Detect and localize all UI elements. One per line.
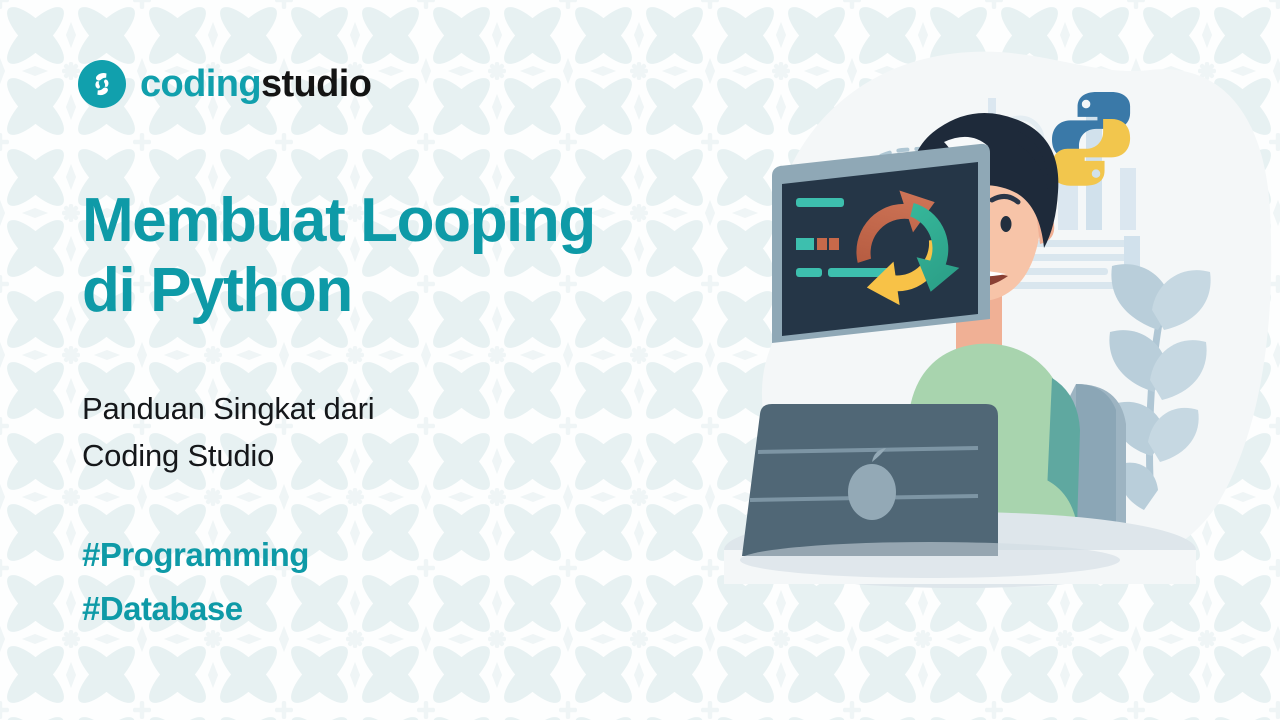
laptop-logo-icon [848,464,896,520]
wordmark-studio: studio [261,63,371,105]
brand-wordmark: codingstudio [140,65,371,103]
hero-illustration [720,0,1280,720]
hashtag-programming[interactable]: #Programming [82,528,309,582]
page-subtitle-line-1: Panduan Singkat dari [82,391,374,426]
codingstudio-logo-icon [78,60,126,108]
hashtag-list: #Programming #Database [82,528,309,636]
page-title: Membuat Loopingdi Python [82,186,742,326]
wordmark-coding: coding [140,63,261,105]
page-subtitle: Panduan Singkat dariCoding Studio [82,385,602,479]
content-column: codingstudio Membuat Loopingdi Python Pa… [78,0,758,720]
brand-logo[interactable]: codingstudio [78,60,371,108]
laptop-shadow [740,542,1120,578]
page-title-line-2: di Python [82,256,352,325]
page-subtitle-line-2: Coding Studio [82,438,274,473]
slide-canvas: codingstudio Membuat Loopingdi Python Pa… [0,0,1280,720]
hashtag-database[interactable]: #Database [82,582,309,636]
page-title-line-1: Membuat Looping [82,186,595,255]
